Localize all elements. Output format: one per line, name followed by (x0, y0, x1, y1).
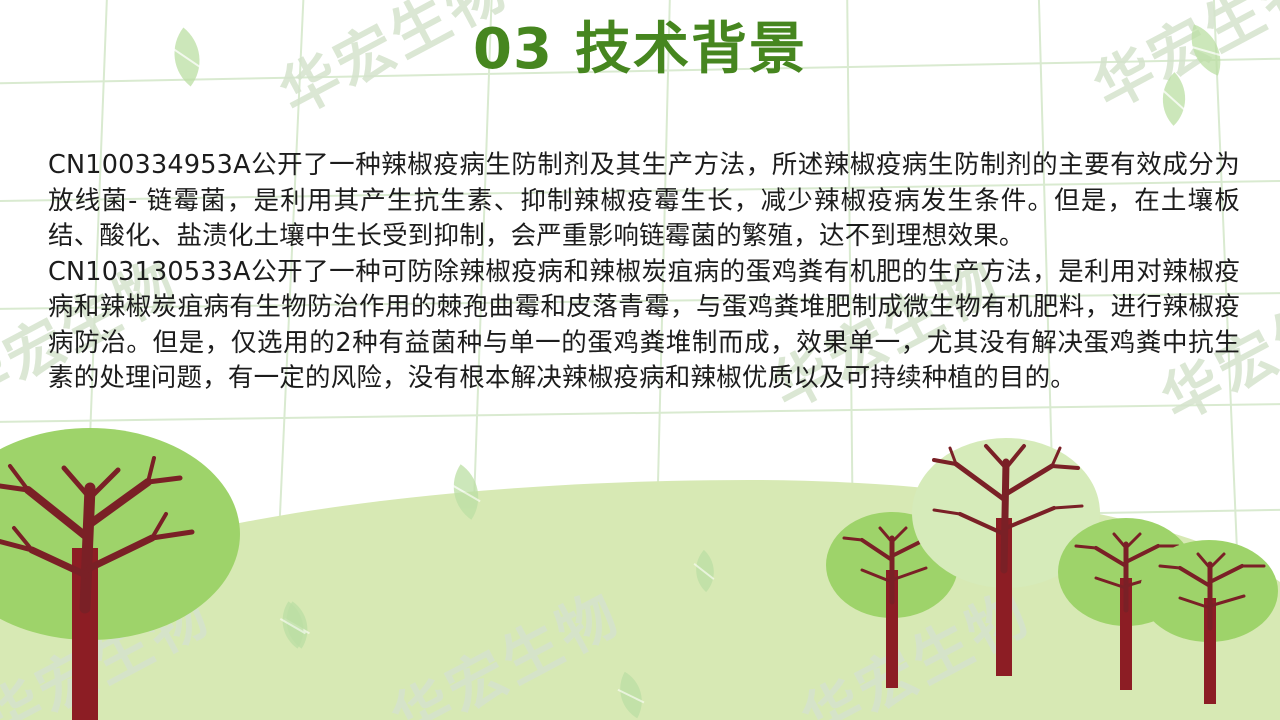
paragraph: CN103130533A公开了一种可防除辣椒疫病和辣椒炭疽病的蛋鸡粪有机肥的生产… (48, 255, 1240, 397)
tree-branches (1140, 540, 1280, 648)
page-title-text: 技术背景 (575, 17, 807, 82)
page-title: 03技术背景 (0, 18, 1280, 82)
paragraph: CN100334953A公开了一种辣椒疫病生防制剂及其生产方法，所述辣椒疫病生防… (48, 148, 1240, 255)
tree-branches (0, 428, 240, 648)
page-title-number: 03 (473, 17, 553, 82)
tree-small-right (1140, 540, 1280, 720)
slide-canvas: 华宏生物 华宏生物 华宏生物 华宏生物 华宏生物 华宏生物 华宏生物 华宏生物 (0, 0, 1280, 720)
tree-large-left (0, 428, 300, 720)
body-content: CN100334953A公开了一种辣椒疫病生防制剂及其生产方法，所述辣椒疫病生防… (48, 148, 1240, 397)
